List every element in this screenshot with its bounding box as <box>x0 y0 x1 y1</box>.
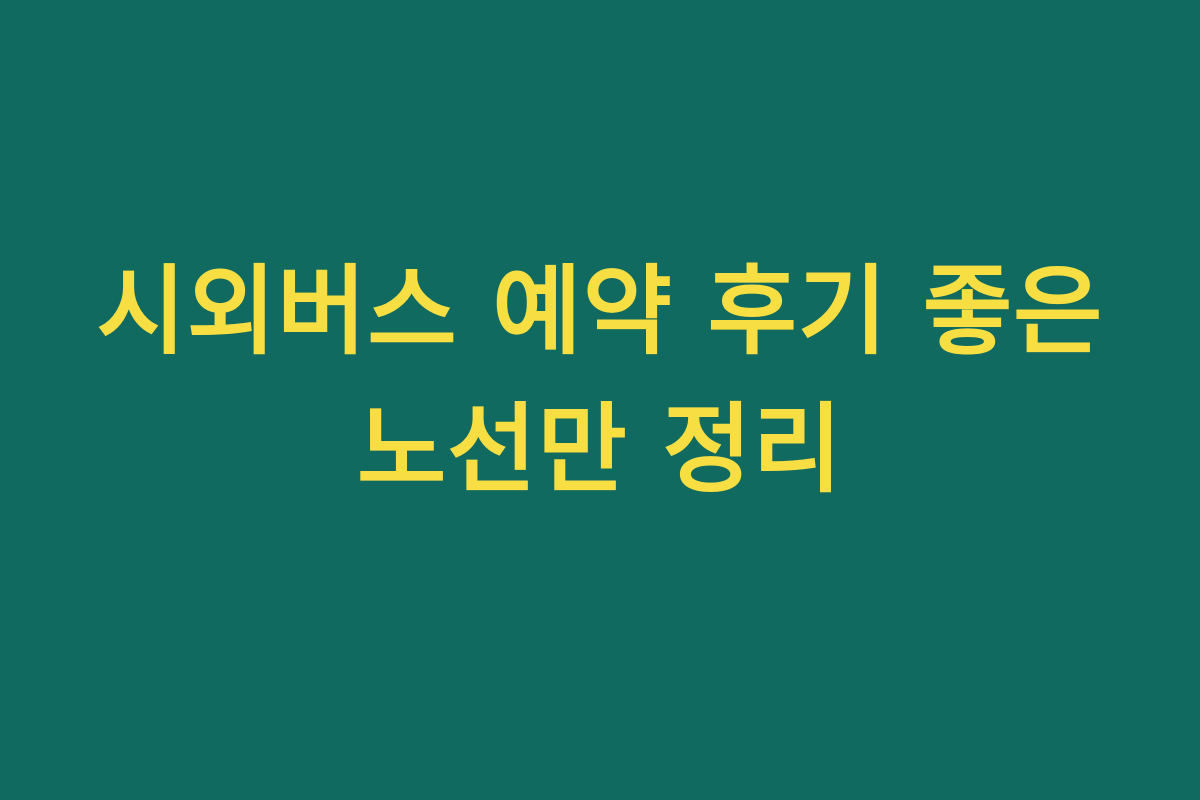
headline-line-1: 시외버스 예약 후기 좋은 <box>0 243 1200 381</box>
headline-line-2: 노선만 정리 <box>0 381 1200 519</box>
headline-block: 시외버스 예약 후기 좋은 노선만 정리 <box>0 0 1200 800</box>
thumbnail-card: 시외버스 예약 후기 좋은 노선만 정리 <box>0 0 1200 800</box>
